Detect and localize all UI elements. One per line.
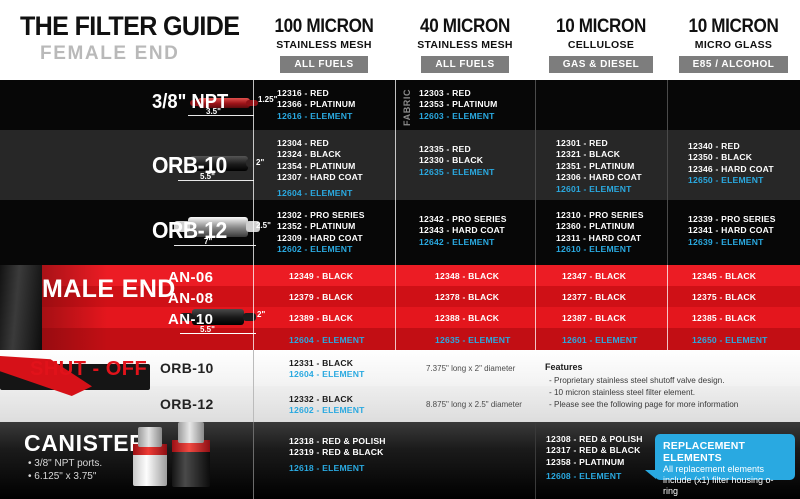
part-number: 12352 - PLATINUM	[277, 221, 365, 232]
feature-item: - Proprietary stainless steel shutoff va…	[549, 376, 725, 385]
part-number: 12307 - HARD COAT	[277, 172, 384, 183]
part-number-element: 12604 - ELEMENT	[289, 369, 365, 380]
part-number: 12339 - PRO SERIES	[688, 214, 776, 225]
column-material: MICRO GLASS	[667, 39, 800, 51]
page-title: THE FILTER GUIDE	[20, 11, 239, 42]
column-fuel-chip: E85 / ALCOHOL	[679, 56, 789, 73]
part-number: 12387 - BLACK	[562, 313, 626, 324]
part-number: 12341 - HARD COAT	[688, 225, 776, 236]
part-number-element: 12608 - ELEMENT	[546, 471, 643, 482]
canister-heading: CANISTER	[24, 430, 146, 457]
part-number-element: 12616 - ELEMENT	[277, 111, 356, 122]
part-number: 12335 - RED	[419, 144, 495, 155]
callout-title: REPLACEMENT ELEMENTS	[663, 440, 787, 464]
part-number: 12388 - BLACK	[435, 313, 499, 324]
female-end-section: 3.5" 1.25" 3/8" NPT FABRIC 12316 - RED 1…	[0, 80, 800, 265]
part-number: 12346 - HARD COAT	[688, 164, 774, 175]
page-subtitle: FEMALE END	[40, 43, 180, 65]
callout-line2: include (x1) filter housing o-ring	[663, 475, 787, 497]
column-micron: 40 MICRON	[402, 16, 528, 38]
cell-100-micron: 12316 - RED 12366 - PLATINUM 12616 - ELE…	[277, 88, 356, 122]
part-number-element: 12602 - ELEMENT	[289, 405, 365, 416]
callout-tail-icon	[645, 470, 656, 479]
part-number: 12306 - HARD COAT	[556, 172, 642, 183]
part-number: 12349 - BLACK	[289, 271, 353, 282]
part-number: 12389 - BLACK	[289, 313, 353, 324]
canister-bullet: • 6.125" x 3.75"	[28, 471, 96, 482]
part-number-element: 12639 - ELEMENT	[688, 237, 776, 248]
part-number-element: 12603 - ELEMENT	[419, 111, 498, 122]
dimension-diameter-label: 1.25"	[258, 95, 277, 104]
table-row[interactable]: 5.5" 2" ORB-10 12304 - RED 12324 - BLACK…	[0, 130, 800, 200]
part-number-element: 12650 - ELEMENT	[692, 335, 768, 346]
filter-fitting-right	[246, 100, 258, 106]
part-number: 12360 - PLATINUM	[556, 221, 644, 232]
part-number: 12304 - RED	[277, 138, 384, 149]
part-number: 12330 - BLACK	[419, 155, 495, 166]
part-number: 12321 - BLACK	[556, 149, 642, 160]
part-number: 12324 - BLACK	[277, 149, 384, 160]
shutoff-heading: SHUT - OFF	[30, 358, 147, 381]
part-number: 12348 - BLACK	[435, 271, 499, 282]
part-number-element: 12604 - ELEMENT	[289, 335, 365, 346]
column-fuel-chip: ALL FUELS	[421, 56, 508, 73]
part-number: 12311 - HARD COAT	[556, 233, 644, 244]
part-number-element: 12650 - ELEMENT	[688, 175, 774, 186]
part-number: 12342 - PRO SERIES	[419, 214, 507, 225]
part-number: 12303 - RED	[419, 88, 498, 99]
part-number: 12319 - RED & BLACK	[289, 447, 386, 458]
part-number: 12340 - RED	[688, 141, 774, 152]
replacement-elements-callout: REPLACEMENT ELEMENTS All replacement ele…	[655, 434, 795, 480]
canister-bullet: • 3/8" NPT ports.	[28, 458, 102, 469]
part-number: 12310 - PRO SERIES	[556, 210, 644, 221]
cell-10-micron-cellulose: 12308 - RED & POLISH 12317 - RED & BLACK…	[546, 434, 643, 483]
part-number: 12350 - BLACK	[688, 152, 774, 163]
filter-fitting-right	[243, 313, 256, 321]
part-number: 12354 - PLATINUM	[277, 161, 384, 172]
column-header-10-micron-microglass: 10 MICRON MICRO GLASS E85 / ALCOHOL	[667, 0, 800, 80]
part-number-element: 12618 - ELEMENT	[289, 463, 386, 474]
part-number: 12316 - RED	[277, 88, 356, 99]
features-title: Features	[545, 362, 583, 372]
shutoff-dimension-orb12: 8.875" long x 2.5" diameter	[426, 400, 522, 409]
title-block: THE FILTER GUIDE FEMALE END	[0, 0, 253, 80]
part-number: 12343 - HARD COAT	[419, 225, 507, 236]
row-label-npt: 3/8" NPT	[152, 91, 228, 114]
part-number: 12302 - PRO SERIES	[277, 210, 365, 221]
row-label-orb12: ORB-12	[152, 217, 227, 244]
table-row[interactable]: 3.5" 1.25" 3/8" NPT FABRIC 12316 - RED 1…	[0, 80, 800, 130]
cell-10-micron-microglass: 12340 - RED 12350 - BLACK 12346 - HARD C…	[688, 141, 774, 187]
part-number-element: 12642 - ELEMENT	[419, 237, 507, 248]
part-number: 12309 - HARD COAT	[277, 233, 365, 244]
dimension-line-length	[188, 115, 254, 116]
feature-item: - 10 micron stainless steel filter eleme…	[549, 388, 695, 397]
row-label-orb12: ORB-12	[160, 396, 214, 412]
dimension-diameter-label: 2.5"	[256, 221, 271, 230]
part-number-element: 12635 - ELEMENT	[435, 335, 511, 346]
part-number: 12377 - BLACK	[562, 292, 626, 303]
canister-section[interactable]: CANISTER • 3/8" NPT ports. • 6.125" x 3.…	[0, 422, 800, 499]
an-fitting-overlay	[0, 265, 42, 350]
filter-guide-page: THE FILTER GUIDE FEMALE END 100 MICRON S…	[0, 0, 800, 499]
part-number: 12308 - RED & POLISH	[546, 434, 643, 445]
shutoff-dimension-orb10: 7.375" long x 2" diameter	[426, 364, 515, 373]
callout-line1: All replacement elements	[663, 464, 787, 475]
part-number-element: 12635 - ELEMENT	[419, 167, 495, 178]
male-end-heading: MALE END	[42, 275, 176, 304]
part-number: 12318 - RED & POLISH	[289, 436, 386, 447]
part-number: 12301 - RED	[556, 138, 642, 149]
column-micron: 100 MICRON	[260, 16, 388, 38]
row-label-an08: AN-08	[168, 290, 213, 307]
column-fuel-chip: GAS & DIESEL	[549, 56, 654, 73]
cell-100-micron: 12302 - PRO SERIES 12352 - PLATINUM 1230…	[277, 210, 365, 256]
part-number: 12378 - BLACK	[435, 292, 499, 303]
part-number-element: 12601 - ELEMENT	[556, 184, 642, 195]
shutoff-section: SHUT - OFF ORB-10 ORB-12 12331 - BLACK 1…	[0, 350, 800, 422]
row-label-an10: AN-10	[168, 311, 213, 328]
row-label-orb10: ORB-10	[152, 152, 227, 179]
fabric-vertical-label: FABRIC	[402, 89, 412, 126]
dimension-diameter-label: 2"	[256, 158, 264, 167]
part-number-element: 12610 - ELEMENT	[556, 244, 644, 255]
column-micron: 10 MICRON	[674, 16, 794, 38]
canister-bracket	[138, 427, 162, 447]
part-number-element: 12604 - ELEMENT	[277, 188, 384, 199]
part-number: 12358 - PLATINUM	[546, 457, 643, 468]
column-material: STAINLESS MESH	[253, 39, 395, 51]
cell-10-micron-microglass: 12339 - PRO SERIES 12341 - HARD COAT 126…	[688, 214, 776, 248]
part-number: 12347 - BLACK	[562, 271, 626, 282]
part-number: 12379 - BLACK	[289, 292, 353, 303]
dimension-diameter-label: 2"	[257, 310, 265, 319]
cell-10-micron-cellulose: 12301 - RED 12321 - BLACK 12351 - PLATIN…	[556, 138, 642, 195]
part-number: 12317 - RED & BLACK	[546, 445, 643, 456]
cell-100-micron: 12318 - RED & POLISH 12319 - RED & BLACK…	[289, 436, 386, 474]
part-number: 12353 - PLATINUM	[419, 99, 498, 110]
column-header-10-micron-cellulose: 10 MICRON CELLULOSE GAS & DIESEL	[535, 0, 667, 80]
cell-40-micron: 12342 - PRO SERIES 12343 - HARD COAT 126…	[419, 214, 507, 248]
column-material: CELLULOSE	[535, 39, 667, 51]
feature-item: - Please see the following page for more…	[549, 400, 738, 409]
part-number-element: 12602 - ELEMENT	[277, 244, 365, 255]
row-label-orb10: ORB-10	[160, 360, 214, 376]
part-number-element: 12601 - ELEMENT	[562, 335, 638, 346]
male-end-section: MALE END 5.5" 2" AN-06 AN-08 AN-10 12349…	[0, 265, 800, 350]
column-header-100-micron: 100 MICRON STAINLESS MESH ALL FUELS	[253, 0, 395, 80]
row-label-an06: AN-06	[168, 269, 213, 286]
column-material: STAINLESS MESH	[395, 39, 535, 51]
part-number: 12375 - BLACK	[692, 292, 756, 303]
part-number: 12351 - PLATINUM	[556, 161, 642, 172]
column-fuel-chip: ALL FUELS	[280, 56, 367, 73]
cell-10-micron-cellulose: 12310 - PRO SERIES 12360 - PLATINUM 1231…	[556, 210, 644, 256]
column-header-40-micron: 40 MICRON STAINLESS MESH ALL FUELS	[395, 0, 535, 80]
column-micron: 10 MICRON	[542, 16, 661, 38]
part-number: 12331 - BLACK	[289, 358, 353, 369]
part-number: 12366 - PLATINUM	[277, 99, 356, 110]
part-number: 12345 - BLACK	[692, 271, 756, 282]
part-number: 12332 - BLACK	[289, 394, 353, 405]
canister-bracket	[178, 422, 204, 443]
table-row[interactable]: 7" 2.5" ORB-12 12302 - PRO SERIES 12352 …	[0, 200, 800, 265]
cell-40-micron: 12303 - RED 12353 - PLATINUM 12603 - ELE…	[419, 88, 498, 122]
cell-40-micron: 12335 - RED 12330 - BLACK 12635 - ELEMEN…	[419, 144, 495, 178]
part-number: 12385 - BLACK	[692, 313, 756, 324]
